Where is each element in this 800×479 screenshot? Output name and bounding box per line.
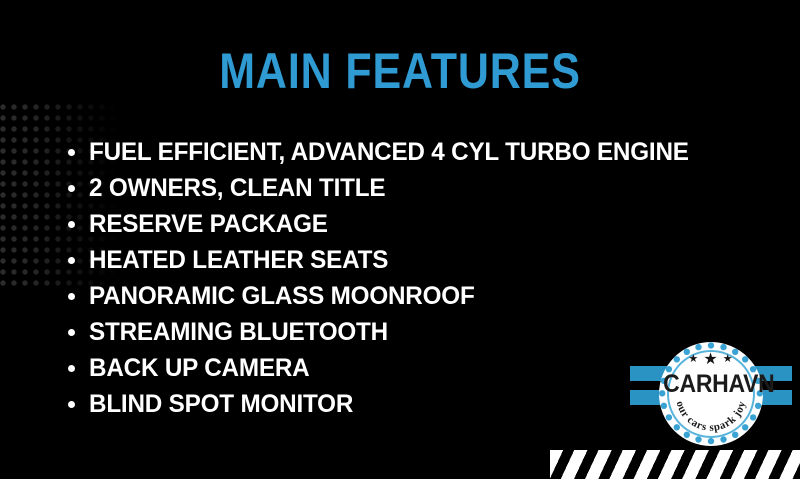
list-item: HEATED LEATHER SEATS (68, 242, 788, 278)
list-item: RESERVE PACKAGE (68, 206, 788, 242)
feature-label: BACK UP CAMERA (89, 350, 309, 386)
list-item: FUEL EFFICIENT, ADVANCED 4 CYL TURBO ENG… (68, 134, 788, 170)
logo-tagline-arc: our cars spark joy (659, 342, 763, 446)
logo-tagline-text: our cars spark joy (674, 400, 749, 434)
feature-label: 2 OWNERS, CLEAN TITLE (89, 170, 385, 206)
diagonal-stripes-decoration (550, 450, 800, 479)
feature-label: PANORAMIC GLASS MOONROOF (89, 278, 475, 314)
feature-label: HEATED LEATHER SEATS (89, 242, 388, 278)
page-title: MAIN FEATURES (56, 46, 744, 96)
bullet-icon (68, 149, 75, 156)
bullet-icon (68, 185, 75, 192)
bullet-icon (68, 293, 75, 300)
bullet-icon (68, 329, 75, 336)
bullet-icon (68, 401, 75, 408)
carhavn-logo: ★ ★ ★ CARHAVN our cars spark joy (622, 340, 800, 450)
bullet-icon (68, 221, 75, 228)
list-item: PANORAMIC GLASS MOONROOF (68, 278, 788, 314)
bullet-icon (68, 257, 75, 264)
feature-label: RESERVE PACKAGE (89, 206, 328, 242)
feature-label: STREAMING BLUETOOTH (89, 314, 388, 350)
feature-label: FUEL EFFICIENT, ADVANCED 4 CYL TURBO ENG… (89, 134, 689, 170)
svg-text:our cars spark joy: our cars spark joy (674, 400, 749, 434)
slide-canvas: MAIN FEATURES FUEL EFFICIENT, ADVANCED 4… (0, 0, 800, 479)
bullet-icon (68, 365, 75, 372)
feature-label: BLIND SPOT MONITOR (89, 386, 353, 422)
list-item: 2 OWNERS, CLEAN TITLE (68, 170, 788, 206)
